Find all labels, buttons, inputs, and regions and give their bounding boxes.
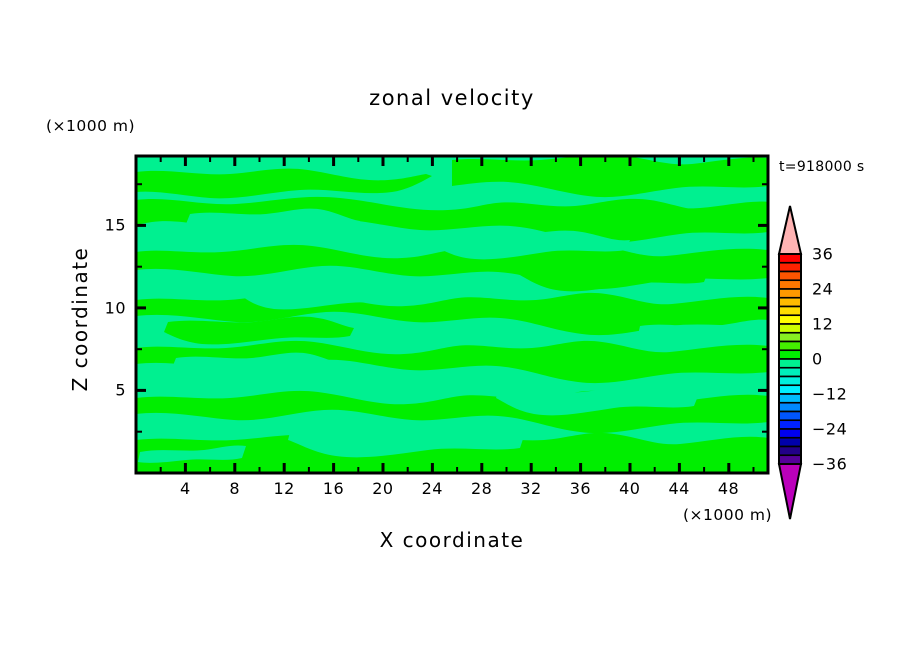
colorbar-swatch xyxy=(779,447,801,456)
x-tick-label: 32 xyxy=(520,479,541,498)
x-tick-label: 20 xyxy=(372,479,393,498)
colorbar-tick-labels: 3624120−12−24−36 xyxy=(812,0,882,654)
colorbar-swatch xyxy=(779,429,801,438)
x-axis-title: X coordinate xyxy=(0,528,904,552)
colorbar-tick-label: −24 xyxy=(812,420,847,439)
colorbar-swatch xyxy=(779,254,801,263)
y-tick-label: 10 xyxy=(105,298,126,317)
colorbar-swatches xyxy=(779,254,801,464)
y-axis-tick-labels: 51015 xyxy=(94,0,126,654)
x-tick-label: 40 xyxy=(619,479,640,498)
colorbar-swatch xyxy=(779,385,801,394)
colorbar-swatch xyxy=(779,420,801,429)
colorbar-swatch xyxy=(779,438,801,447)
contour-plot xyxy=(0,0,904,654)
colorbar-tick-label: 12 xyxy=(812,315,833,334)
x-tick-label: 24 xyxy=(422,479,443,498)
colorbar-swatch xyxy=(779,315,801,324)
colorbar-swatch xyxy=(779,289,801,298)
colorbar-swatch xyxy=(779,412,801,421)
colorbar-swatch xyxy=(779,333,801,342)
colorbar-swatch xyxy=(779,403,801,412)
x-tick-label: 4 xyxy=(180,479,191,498)
y-tick-label: 15 xyxy=(105,216,126,235)
x-tick-label: 44 xyxy=(668,479,689,498)
colorbar-tick-label: −12 xyxy=(812,385,847,404)
colorbar-tick-label: 0 xyxy=(812,350,823,369)
figure-canvas: zonal velocity (×1000 m) t=918000 s xyxy=(0,0,904,654)
colorbar-swatch xyxy=(779,350,801,359)
colorbar-swatch xyxy=(779,324,801,333)
colorbar-swatch xyxy=(779,368,801,377)
colorbar-swatch xyxy=(779,377,801,386)
colorbar-swatch xyxy=(779,394,801,403)
x-tick-label: 16 xyxy=(323,479,344,498)
colorbar-swatch xyxy=(779,455,801,464)
x-tick-label: 12 xyxy=(273,479,294,498)
x-axis-units-label: (×1000 m) xyxy=(683,506,772,524)
y-tick-label: 5 xyxy=(115,381,126,400)
colorbar-swatch xyxy=(779,342,801,351)
colorbar-over-arrow xyxy=(779,206,801,254)
colorbar-under-arrow xyxy=(779,464,801,519)
x-tick-label: 36 xyxy=(570,479,591,498)
colorbar-tick-label: 36 xyxy=(812,245,833,264)
colorbar[interactable] xyxy=(779,206,801,519)
colorbar-swatch xyxy=(779,359,801,368)
colorbar-swatch xyxy=(779,298,801,307)
colorbar-swatch xyxy=(779,263,801,272)
colorbar-swatch xyxy=(779,272,801,281)
x-tick-label: 28 xyxy=(471,479,492,498)
colorbar-tick-label: 24 xyxy=(812,280,833,299)
x-tick-label: 48 xyxy=(718,479,739,498)
x-tick-label: 8 xyxy=(229,479,240,498)
colorbar-swatch xyxy=(779,307,801,316)
y-axis-title: Z coordinate xyxy=(68,189,92,449)
colorbar-swatch xyxy=(779,280,801,289)
colorbar-tick-label: −36 xyxy=(812,455,847,474)
